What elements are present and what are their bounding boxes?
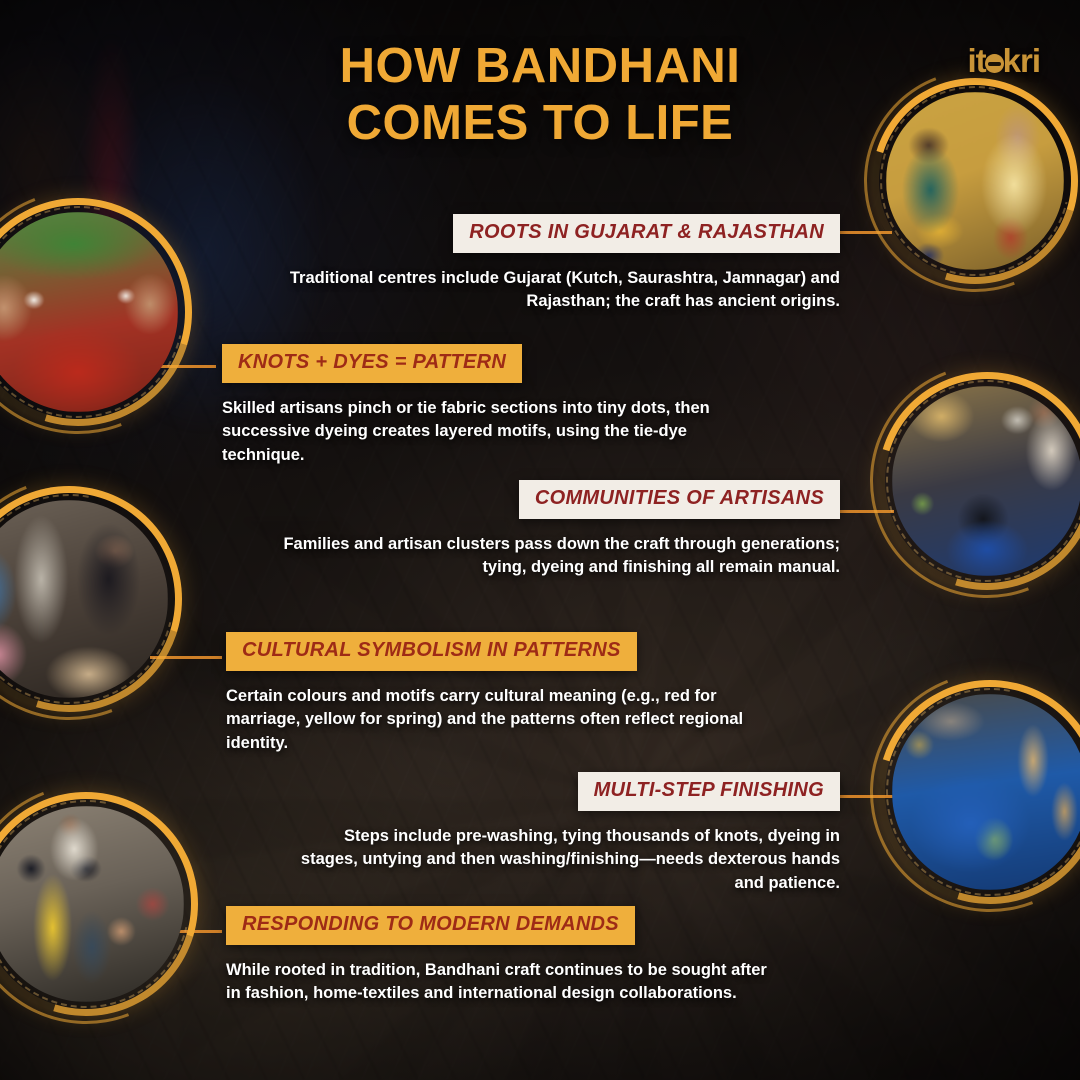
section-modern-demands: RESPONDING TO MODERN DEMANDS While roote… xyxy=(226,906,786,1006)
photo-artisan-cluster-women xyxy=(0,500,168,698)
section-heading-knots-dyes: KNOTS + DYES = PATTERN xyxy=(222,344,522,383)
photo-man-lifting-yellow-fabric xyxy=(0,806,184,1002)
photo-bundles-in-blue-vat xyxy=(892,694,1080,890)
section-body-cultural-symbolism: Certain colours and motifs carry cultura… xyxy=(226,685,766,755)
logo-text-pre: it xyxy=(967,42,985,79)
section-body-communities: Families and artisan clusters pass down … xyxy=(240,533,840,580)
itokri-logo[interactable]: itkri xyxy=(967,42,1040,80)
title-line-2: COMES TO LIFE xyxy=(0,95,1080,152)
section-communities: COMMUNITIES OF ARTISANS Families and art… xyxy=(240,480,840,580)
section-cultural-symbolism: CULTURAL SYMBOLISM IN PATTERNS Certain c… xyxy=(226,632,766,755)
section-roots: ROOTS IN GUJARAT & RAJASTHAN Traditional… xyxy=(240,214,840,314)
section-body-knots-dyes: Skilled artisans pinch or tie fabric sec… xyxy=(222,397,752,467)
section-heading-communities: COMMUNITIES OF ARTISANS xyxy=(519,480,840,519)
title-line-1: HOW BANDHANI xyxy=(0,38,1080,95)
infographic-canvas: HOW BANDHANI COMES TO LIFE itkri xyxy=(0,0,1080,1080)
section-heading-cultural-symbolism: CULTURAL SYMBOLISM IN PATTERNS xyxy=(226,632,637,671)
section-body-multi-step-finishing: Steps include pre-washing, tying thousan… xyxy=(300,825,840,895)
photo-dyer-blue-tub xyxy=(892,386,1080,576)
logo-text-post: kri xyxy=(1003,42,1040,79)
section-knots-dyes: KNOTS + DYES = PATTERN Skilled artisans … xyxy=(222,344,752,467)
section-heading-multi-step-finishing: MULTI-STEP FINISHING xyxy=(578,772,840,811)
section-heading-roots: ROOTS IN GUJARAT & RAJASTHAN xyxy=(453,214,840,253)
section-body-roots: Traditional centres include Gujarat (Kut… xyxy=(240,267,840,314)
logo-circle-icon xyxy=(985,54,1004,73)
section-multi-step-finishing: MULTI-STEP FINISHING Steps include pre-w… xyxy=(300,772,840,895)
page-title: HOW BANDHANI COMES TO LIFE xyxy=(0,38,1080,152)
section-body-modern-demands: While rooted in tradition, Bandhani craf… xyxy=(226,959,786,1006)
section-heading-modern-demands: RESPONDING TO MODERN DEMANDS xyxy=(226,906,635,945)
photo-hands-tying-red-fabric xyxy=(0,212,178,412)
